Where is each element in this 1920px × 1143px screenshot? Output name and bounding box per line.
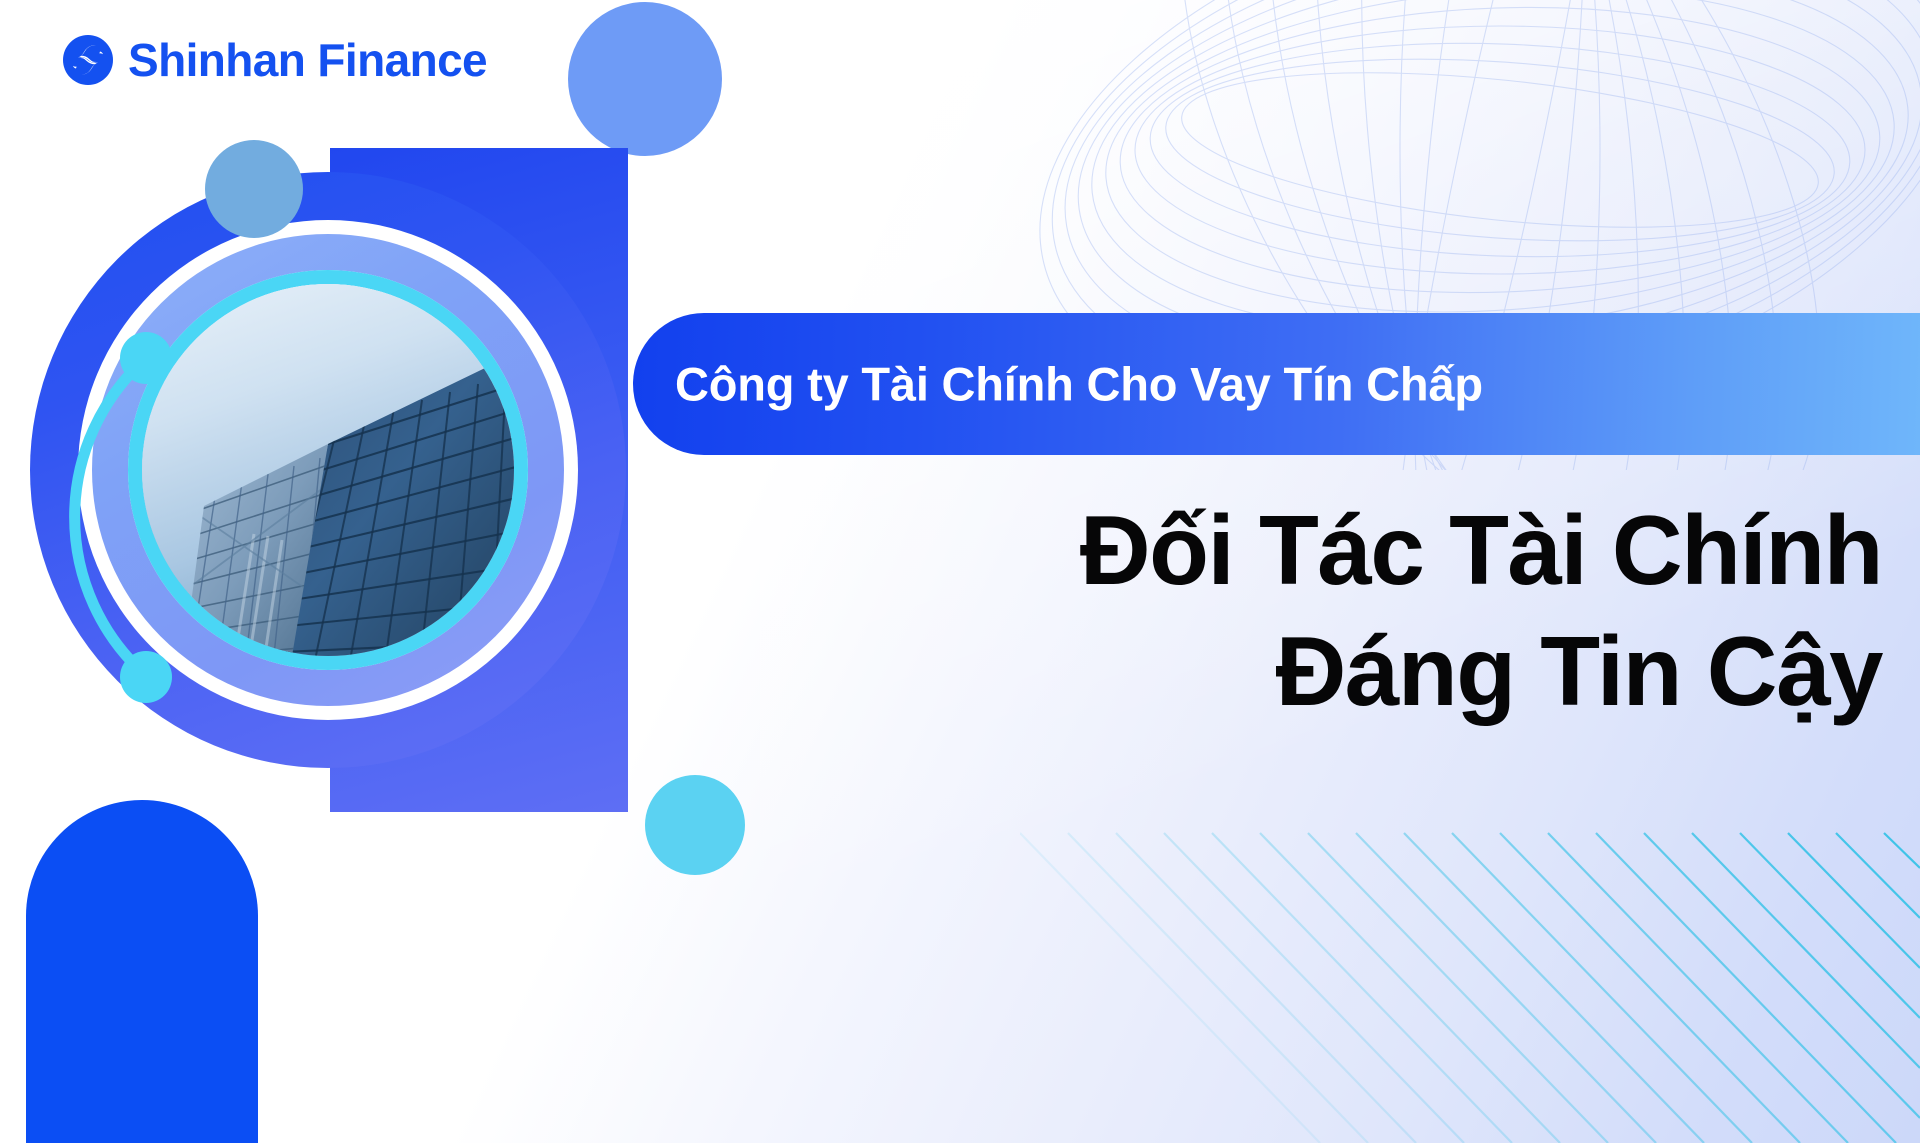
shinhan-globe-fish-logo-icon xyxy=(62,34,114,86)
page-title-line-2: Đáng Tin Cậy xyxy=(633,611,1882,732)
subtitle-banner-label: Công ty Tài Chính Cho Vay Tín Chấp xyxy=(675,357,1483,412)
circular-photo-badge xyxy=(30,172,650,832)
poster-canvas: Shinhan Finance Công ty Tài Chính Cho Va… xyxy=(0,0,1920,1143)
decorative-circle-cyan xyxy=(645,775,745,875)
page-title-line-1: Đối Tác Tài Chính xyxy=(633,490,1882,611)
page-title: Đối Tác Tài Chính Đáng Tin Cậy xyxy=(633,490,1920,731)
brand-logo[interactable]: Shinhan Finance xyxy=(62,34,487,86)
decorative-circle-top-blue xyxy=(205,140,303,238)
diagonal-stripes-icon xyxy=(1020,713,1920,1143)
content-column: Công ty Tài Chính Cho Vay Tín Chấp Đối T… xyxy=(633,313,1920,731)
brand-name: Shinhan Finance xyxy=(128,37,487,83)
decorative-circle-sky xyxy=(568,2,722,156)
subtitle-banner: Công ty Tài Chính Cho Vay Tín Chấp xyxy=(633,313,1920,455)
skyscraper-photo-illustration xyxy=(142,284,514,656)
building-photo xyxy=(142,284,514,656)
decorative-dome-shape xyxy=(26,800,258,1143)
